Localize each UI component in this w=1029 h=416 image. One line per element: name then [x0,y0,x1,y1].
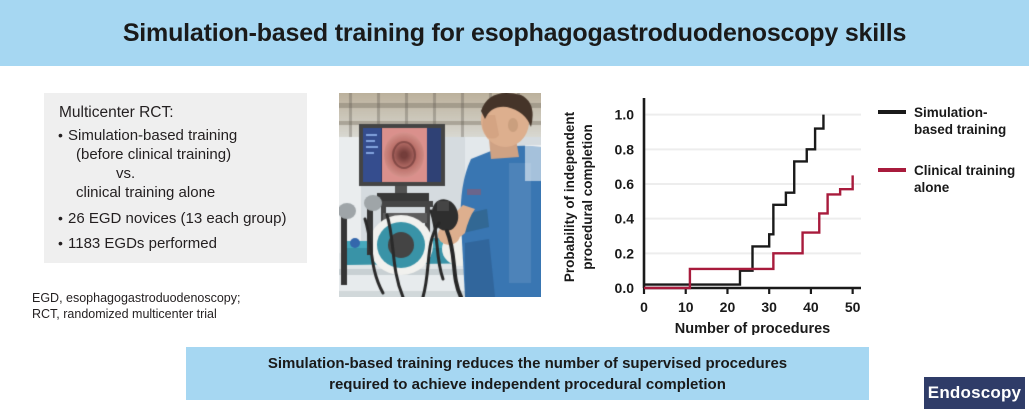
comparison-versus: vs. [116,164,297,183]
legend-label: Simulation- [914,105,988,120]
footnote-line-2: RCT, randomized multicenter trial [32,306,332,322]
list-item: • Simulation-based training [58,126,297,145]
footnote-line-1: EGD, esophagogastroduodenoscopy; [32,290,332,306]
list-item-label: 1183 EGDs performed [68,234,217,253]
y-axis-tick-label: 0.8 [615,141,635,157]
y-axis-tick-label: 0.4 [615,211,635,227]
x-axis-tick-label: 10 [678,299,694,315]
intervention-detail-before: (before clinical training) [76,145,297,164]
bullet-icon: • [58,126,68,145]
journal-logo-label: Endoscopy [928,383,1021,403]
conclusion-line-1: Simulation-based training reduces the nu… [268,353,787,374]
conclusion-banner: Simulation-based training reduces the nu… [186,347,869,400]
x-axis-title: Number of procedures [675,321,831,335]
y-axis-tick-label: 1.0 [615,107,635,123]
x-axis-tick-label: 40 [803,299,819,315]
photo-canvas [339,93,541,297]
page-title: Simulation-based training for esophagoga… [123,19,906,48]
simulator-training-photo [339,93,541,297]
x-axis-tick-label: 50 [845,299,861,315]
bullet-icon: • [58,234,68,253]
legend-label: alone [914,180,950,195]
y-axis-tick-label: 0.2 [615,245,635,261]
list-item: • 1183 EGDs performed [58,234,297,253]
legend-label: Clinical training [914,163,1015,178]
y-axis-tick-label: 0.6 [615,176,635,192]
x-axis-tick-label: 30 [761,299,777,315]
study-summary-panel: Multicenter RCT: • Simulation-based trai… [44,93,307,263]
chart-svg: 010203040500.00.20.40.60.81.0Number of p… [556,90,1021,335]
conclusion-line-2: required to achieve independent procedur… [329,374,726,395]
comparator-arm: clinical training alone [76,183,297,202]
y-axis-title: Probability of independent [562,111,577,282]
kaplan-meier-chart: 010203040500.00.20.40.60.81.0Number of p… [556,90,1021,335]
journal-logo: Endoscopy [924,377,1025,409]
y-axis-tick-label: 0.0 [615,280,635,296]
legend-label: based training [914,122,1006,137]
series-line [644,115,823,285]
header-band: Simulation-based training for esophagoga… [0,0,1029,66]
list-item-label: Simulation-based training [68,126,237,145]
abbreviations-footnote: EGD, esophagogastroduodenoscopy; RCT, ra… [32,290,332,322]
bullet-icon: • [58,209,68,228]
x-axis-tick-label: 0 [640,299,648,315]
list-item-label: 26 EGD novices (13 each group) [68,209,286,228]
y-axis-title: procedural completion [580,124,595,270]
list-item: • 26 EGD novices (13 each group) [58,209,297,228]
study-summary-heading: Multicenter RCT: [59,104,297,122]
x-axis-tick-label: 20 [720,299,736,315]
